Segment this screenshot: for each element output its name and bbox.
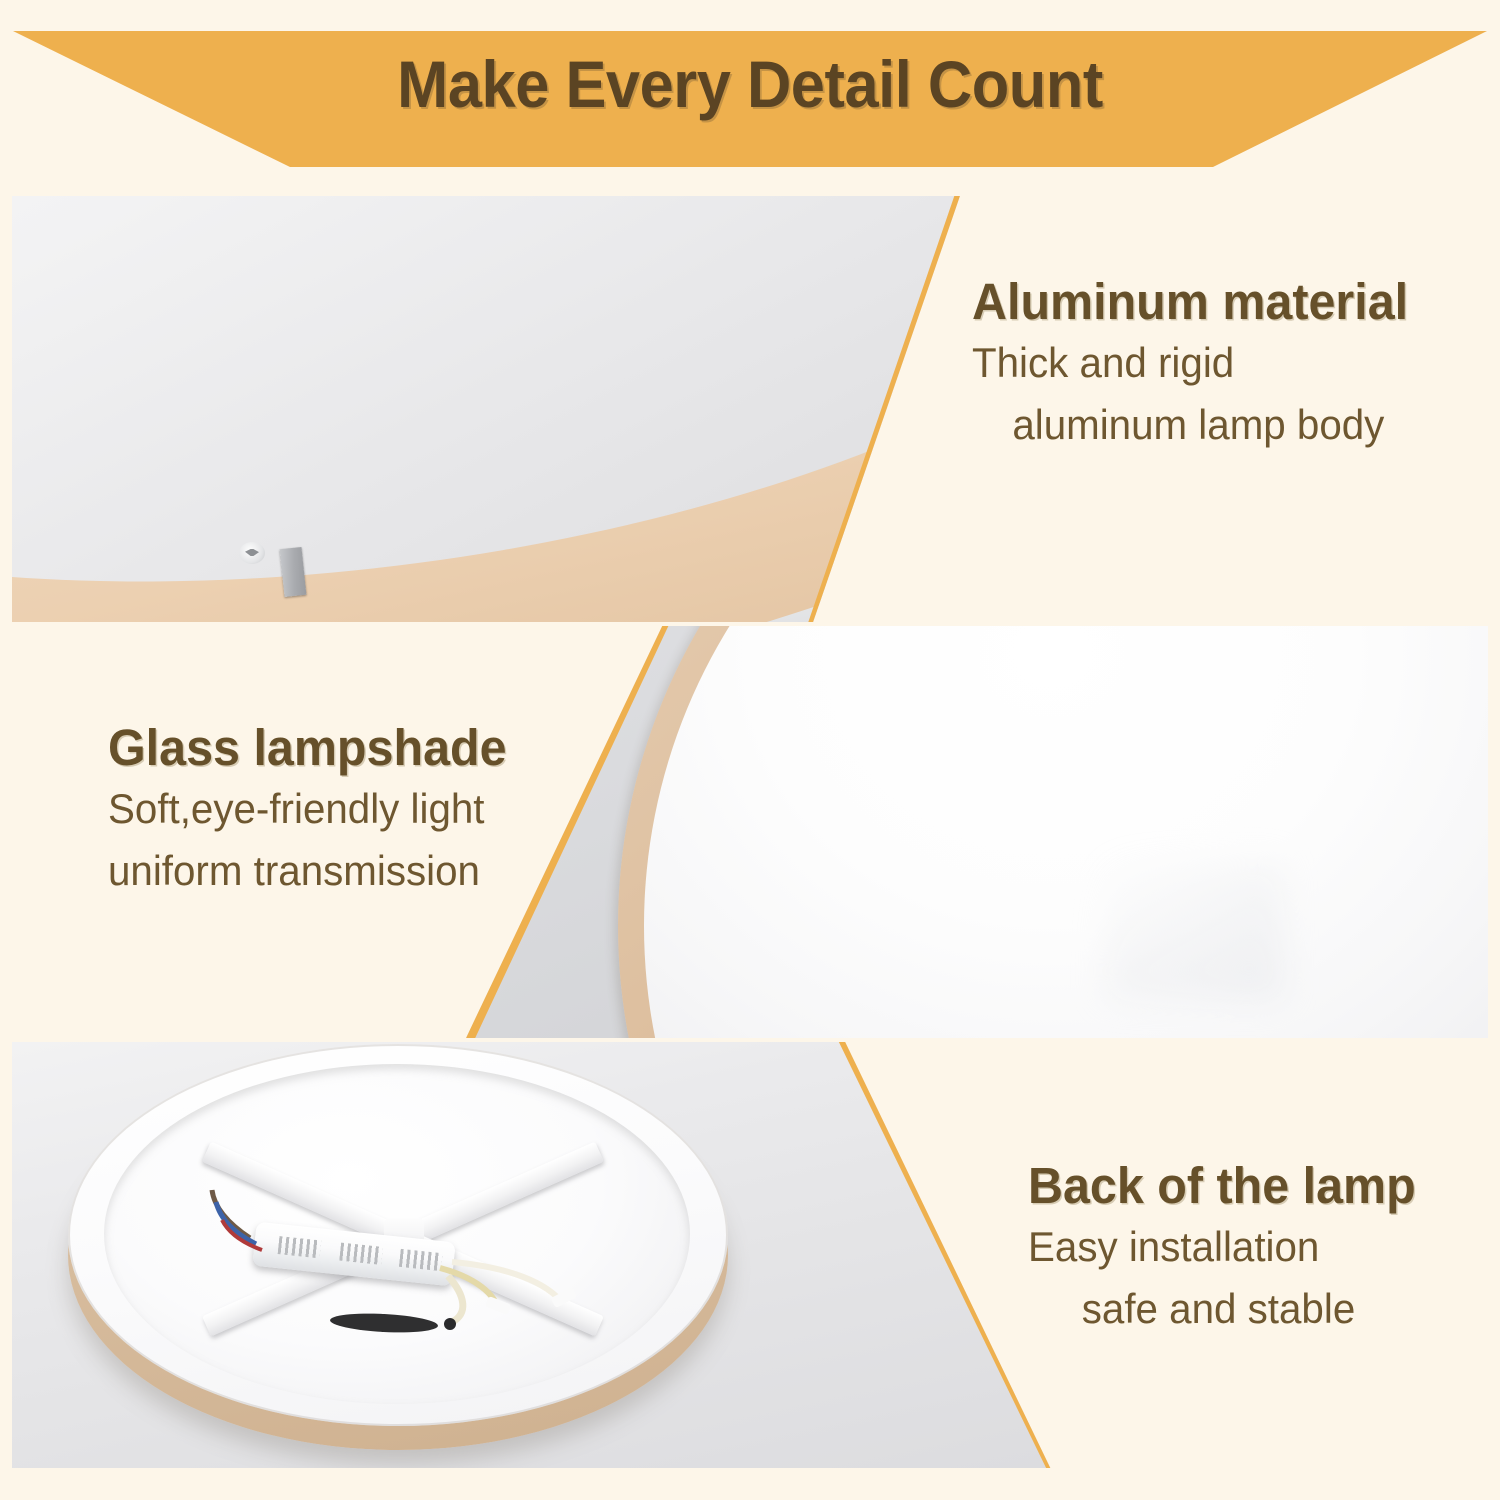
feature-photo-aluminum-material	[12, 196, 960, 622]
feature-line: aluminum lamp body	[972, 394, 1471, 456]
vent-grille	[339, 1243, 383, 1265]
feature-text-glass-lampshade: Glass lampshade Soft,eye-friendly light …	[108, 718, 648, 902]
lampshade-opal-dome-shape	[644, 626, 1488, 1038]
page-title: Make Every Detail Count	[53, 44, 1448, 124]
feature-line: Easy installation	[1028, 1216, 1470, 1278]
dome-reflection-highlight	[1106, 862, 1282, 998]
feature-title: Back of the lamp	[1028, 1156, 1465, 1216]
feature-line: Soft,eye-friendly light	[108, 778, 626, 840]
feature-line: Thick and rigid	[972, 332, 1471, 394]
vent-grille	[278, 1236, 322, 1258]
infographic-page: Make Every Detail Count Aluminum materia…	[0, 0, 1500, 1500]
feature-line: safe and stable	[1028, 1278, 1470, 1340]
vent-grille	[399, 1249, 443, 1271]
feature-title: Aluminum material	[972, 272, 1466, 332]
feature-text-aluminum-material: Aluminum material Thick and rigid alumin…	[972, 272, 1492, 456]
screw-icon	[239, 542, 265, 564]
feature-title: Glass lampshade	[108, 718, 621, 778]
feature-line: uniform transmission	[108, 840, 626, 902]
feature-text-back-of-the-lamp: Back of the lamp Easy installation safe …	[1028, 1156, 1488, 1340]
header-banner: Make Every Detail Count	[0, 0, 1500, 170]
feature-photo-back-of-the-lamp	[12, 1042, 1064, 1468]
